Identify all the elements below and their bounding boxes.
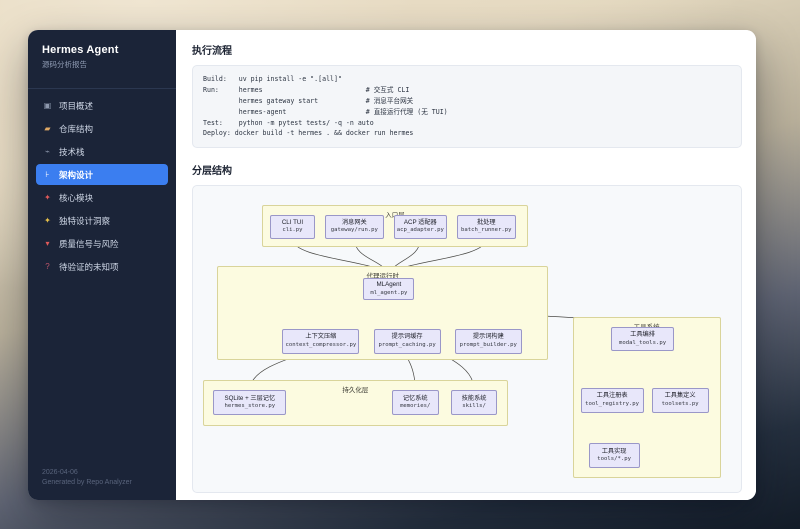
diagram-node-toolsets[interactable]: 工具集定义toolsets.py bbox=[652, 388, 709, 412]
sidebar-item-2[interactable]: ⌁技术栈 bbox=[36, 141, 168, 162]
node-file: ml_agent.py bbox=[370, 290, 407, 298]
node-title: 工具集定义 bbox=[665, 392, 696, 400]
diagram-node-gateway[interactable]: 消息网关gateway/run.py bbox=[325, 215, 384, 239]
footer-generated-by: Generated by Repo Analyzer bbox=[42, 479, 162, 486]
architecture-diagram-card: 入口层代理运行时持久化层工具系统CLI TUIcli.py消息网关gateway… bbox=[192, 185, 742, 493]
node-title: 提示词缓存 bbox=[392, 333, 423, 341]
brand-title: Hermes Agent bbox=[42, 44, 162, 56]
node-file: toolsets.py bbox=[662, 401, 699, 409]
sidebar-nav: ▣项目概述▰仓库结构⌁技术栈⊦架构设计✦核心模块✦独特设计洞察▾质量信号与风险?… bbox=[28, 89, 176, 459]
node-file: acp_adapter.py bbox=[397, 227, 444, 235]
node-file: tools/*.py bbox=[597, 456, 631, 464]
execution-code-card: Build: uv pip install -e ".[all]" Run: h… bbox=[192, 65, 742, 148]
node-title: 批处理 bbox=[477, 219, 496, 227]
sidebar-item-label: 技术栈 bbox=[59, 146, 85, 158]
sidebar-footer: 2026-04-06 Generated by Repo Analyzer bbox=[28, 459, 176, 500]
node-file: cli.py bbox=[282, 227, 302, 235]
diagram-node-memories[interactable]: 记忆系统memories/ bbox=[392, 390, 439, 414]
brand-subtitle: 源码分析报告 bbox=[42, 59, 162, 70]
node-title: CLI TUI bbox=[282, 219, 303, 227]
app-window: Hermes Agent 源码分析报告 ▣项目概述▰仓库结构⌁技术栈⊦架构设计✦… bbox=[28, 30, 756, 500]
main-content: 执行流程 Build: uv pip install -e ".[all]" R… bbox=[176, 30, 756, 500]
sidebar-item-label: 独特设计洞察 bbox=[59, 215, 110, 227]
document-icon: ▣ bbox=[43, 101, 52, 110]
page-title-execution: 执行流程 bbox=[192, 42, 742, 57]
node-file: batch_runner.py bbox=[461, 227, 512, 235]
diagram-node-skills[interactable]: 技能系统skills/ bbox=[451, 390, 498, 414]
sidebar: Hermes Agent 源码分析报告 ▣项目概述▰仓库结构⌁技术栈⊦架构设计✦… bbox=[28, 30, 176, 500]
sitemap-icon: ⊦ bbox=[43, 170, 52, 179]
question-icon: ? bbox=[43, 262, 52, 271]
node-file: modal_tools.py bbox=[619, 340, 666, 348]
node-title: 工具注册表 bbox=[597, 392, 628, 400]
execution-code-block: Build: uv pip install -e ".[all]" Run: h… bbox=[203, 74, 731, 139]
code-icon: ⌁ bbox=[43, 147, 52, 156]
node-title: 记忆系统 bbox=[403, 395, 428, 403]
node-title: 上下文压缩 bbox=[305, 333, 336, 341]
diagram-node-context[interactable]: 上下文压缩context_compressor.py bbox=[282, 329, 359, 353]
diagram-node-modaltool[interactable]: 工具编排modal_tools.py bbox=[611, 327, 674, 351]
node-title: 技能系统 bbox=[462, 395, 487, 403]
architecture-diagram: 入口层代理运行时持久化层工具系统CLI TUIcli.py消息网关gateway… bbox=[193, 186, 741, 492]
diagram-node-acp[interactable]: ACP 适配器acp_adapter.py bbox=[394, 215, 447, 239]
diagram-node-batch[interactable]: 批处理batch_runner.py bbox=[457, 215, 516, 239]
footer-date: 2026-04-06 bbox=[42, 469, 162, 476]
node-title: 工具编排 bbox=[630, 331, 655, 339]
puzzle-icon: ✦ bbox=[43, 193, 52, 202]
diagram-node-promptb[interactable]: 提示词构建prompt_builder.py bbox=[455, 329, 522, 353]
sidebar-item-label: 核心模块 bbox=[59, 192, 93, 204]
page-title-architecture: 分层结构 bbox=[192, 162, 742, 177]
sidebar-item-1[interactable]: ▰仓库结构 bbox=[36, 118, 168, 139]
diagram-node-sqlite[interactable]: SQLite + 三层记忆hermes_store.py bbox=[213, 390, 286, 414]
node-title: 消息网关 bbox=[342, 219, 367, 227]
sidebar-item-3[interactable]: ⊦架构设计 bbox=[36, 164, 168, 185]
diagram-node-promptc[interactable]: 提示词缓存prompt_caching.py bbox=[374, 329, 441, 353]
node-file: gateway/run.py bbox=[331, 227, 378, 235]
node-file: hermes_store.py bbox=[225, 403, 276, 411]
node-title: 工具实现 bbox=[602, 448, 627, 456]
sidebar-item-label: 待验证的未知项 bbox=[59, 261, 119, 273]
diagram-node-mlagent[interactable]: MLAgentml_agent.py bbox=[363, 278, 414, 300]
node-title: MLAgent bbox=[376, 281, 401, 289]
sidebar-item-0[interactable]: ▣项目概述 bbox=[36, 95, 168, 116]
sidebar-item-6[interactable]: ▾质量信号与风险 bbox=[36, 233, 168, 254]
diagram-node-toolsimpl[interactable]: 工具实现tools/*.py bbox=[589, 443, 640, 467]
sidebar-brand: Hermes Agent 源码分析报告 bbox=[28, 30, 176, 80]
sidebar-item-4[interactable]: ✦核心模块 bbox=[36, 187, 168, 208]
sidebar-item-7[interactable]: ?待验证的未知项 bbox=[36, 256, 168, 277]
node-title: SQLite + 三层记忆 bbox=[224, 395, 275, 403]
sidebar-item-label: 项目概述 bbox=[59, 100, 93, 112]
sidebar-item-label: 质量信号与风险 bbox=[59, 238, 119, 250]
sidebar-item-label: 仓库结构 bbox=[59, 123, 93, 135]
shield-icon: ▾ bbox=[43, 239, 52, 248]
node-file: prompt_caching.py bbox=[378, 342, 435, 350]
node-file: tool_registry.py bbox=[585, 401, 639, 409]
node-file: context_compressor.py bbox=[285, 342, 356, 350]
sparkle-icon: ✦ bbox=[43, 216, 52, 225]
sidebar-item-label: 架构设计 bbox=[59, 169, 93, 181]
diagram-node-registry[interactable]: 工具注册表tool_registry.py bbox=[581, 388, 644, 412]
sidebar-item-5[interactable]: ✦独特设计洞察 bbox=[36, 210, 168, 231]
node-file: skills/ bbox=[462, 403, 486, 411]
node-file: prompt_builder.py bbox=[460, 342, 517, 350]
node-file: memories/ bbox=[400, 403, 430, 411]
folder-icon: ▰ bbox=[43, 124, 52, 133]
node-title: ACP 适配器 bbox=[404, 219, 437, 227]
diagram-node-cli[interactable]: CLI TUIcli.py bbox=[270, 215, 315, 239]
node-title: 提示词构建 bbox=[473, 333, 504, 341]
